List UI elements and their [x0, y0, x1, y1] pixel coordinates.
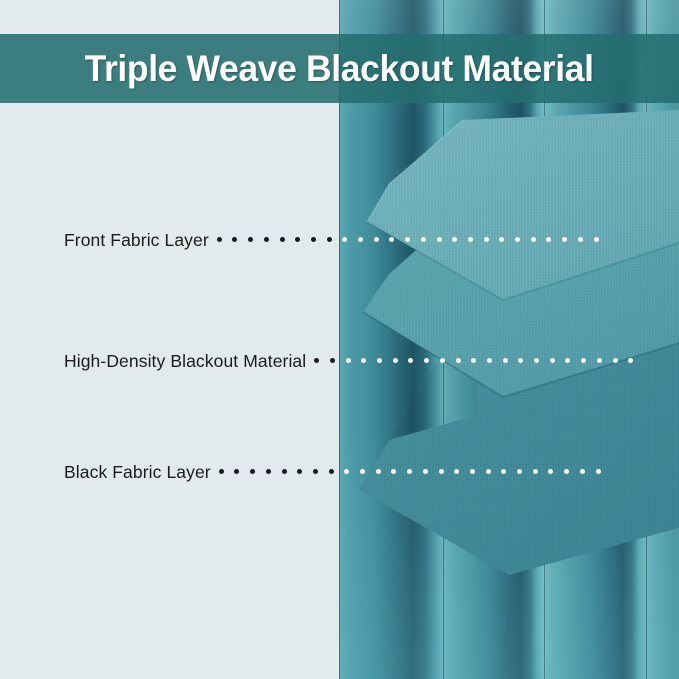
leader-dot	[597, 358, 602, 363]
leader-dot	[596, 469, 601, 474]
leader-dot	[264, 237, 269, 242]
leader-dot	[280, 237, 285, 242]
leader-dot	[562, 237, 567, 242]
leader-dot	[389, 237, 394, 242]
leader-dot	[248, 237, 253, 242]
leader-dot	[484, 237, 489, 242]
leader-dots	[219, 460, 612, 484]
leader-dot	[594, 237, 599, 242]
leader-dot	[346, 358, 351, 363]
product-infographic: Triple Weave Blackout Material Front Fab…	[0, 0, 679, 679]
leader-dot	[408, 358, 413, 363]
leader-dots	[217, 228, 610, 252]
leader-dot	[471, 358, 476, 363]
leader-dot	[329, 469, 334, 474]
leader-dot	[440, 358, 445, 363]
leader-dot	[217, 237, 222, 242]
callout-high-density-blackout-material: High-Density Blackout Material	[64, 349, 644, 373]
leader-dot	[515, 237, 520, 242]
callout-black-fabric-layer: Black Fabric Layer	[64, 460, 611, 484]
leader-dot	[486, 469, 491, 474]
leader-dot	[421, 237, 426, 242]
leader-dot	[360, 469, 365, 474]
leader-dot	[580, 469, 585, 474]
leader-dot	[501, 469, 506, 474]
leader-dot	[219, 469, 224, 474]
callout-label: Front Fabric Layer	[64, 230, 209, 251]
leader-dot	[518, 358, 523, 363]
leader-dot	[499, 237, 504, 242]
leader-dot	[393, 358, 398, 363]
leader-dot	[424, 358, 429, 363]
leader-dot	[470, 469, 475, 474]
leader-dot	[437, 237, 442, 242]
leader-dot	[613, 358, 618, 363]
leader-dot	[503, 358, 508, 363]
leader-dot	[550, 358, 555, 363]
leader-dot	[344, 469, 349, 474]
leader-dot	[628, 358, 633, 363]
leader-dot	[487, 358, 492, 363]
leader-dot	[297, 469, 302, 474]
leader-dot	[374, 237, 379, 242]
leader-dot	[423, 469, 428, 474]
leader-dot	[565, 358, 570, 363]
fabric-sheet-top	[367, 110, 679, 325]
leader-dot	[407, 469, 412, 474]
leader-dot	[548, 469, 553, 474]
leader-dot	[234, 469, 239, 474]
leader-dot	[439, 469, 444, 474]
callout-label: High-Density Blackout Material	[64, 351, 306, 372]
leader-dot	[327, 237, 332, 242]
leader-dot	[361, 358, 366, 363]
leader-dot	[250, 469, 255, 474]
leader-dot	[468, 237, 473, 242]
leader-dot	[311, 237, 316, 242]
callout-label: Black Fabric Layer	[64, 462, 211, 483]
leader-dot	[377, 358, 382, 363]
leader-dot	[581, 358, 586, 363]
leader-dot	[313, 469, 318, 474]
leader-dot	[534, 358, 539, 363]
title-banner: Triple Weave Blackout Material	[0, 34, 679, 103]
leader-dot	[578, 237, 583, 242]
leader-dot	[376, 469, 381, 474]
leader-dot	[456, 358, 461, 363]
leader-dot	[405, 237, 410, 242]
leader-dot	[533, 469, 538, 474]
leader-dot	[314, 358, 319, 363]
callout-front-fabric-layer: Front Fabric Layer	[64, 228, 609, 252]
leader-dot	[295, 237, 300, 242]
leader-dots	[314, 349, 644, 373]
leader-dot	[232, 237, 237, 242]
leader-dot	[546, 237, 551, 242]
leader-dot	[358, 237, 363, 242]
leader-dot	[391, 469, 396, 474]
leader-dot	[266, 469, 271, 474]
leader-dot	[454, 469, 459, 474]
leader-dot	[342, 237, 347, 242]
leader-dot	[517, 469, 522, 474]
leader-dot	[564, 469, 569, 474]
leader-dot	[330, 358, 335, 363]
leader-dot	[531, 237, 536, 242]
leader-dot	[452, 237, 457, 242]
leader-dot	[282, 469, 287, 474]
page-title: Triple Weave Blackout Material	[85, 48, 594, 90]
